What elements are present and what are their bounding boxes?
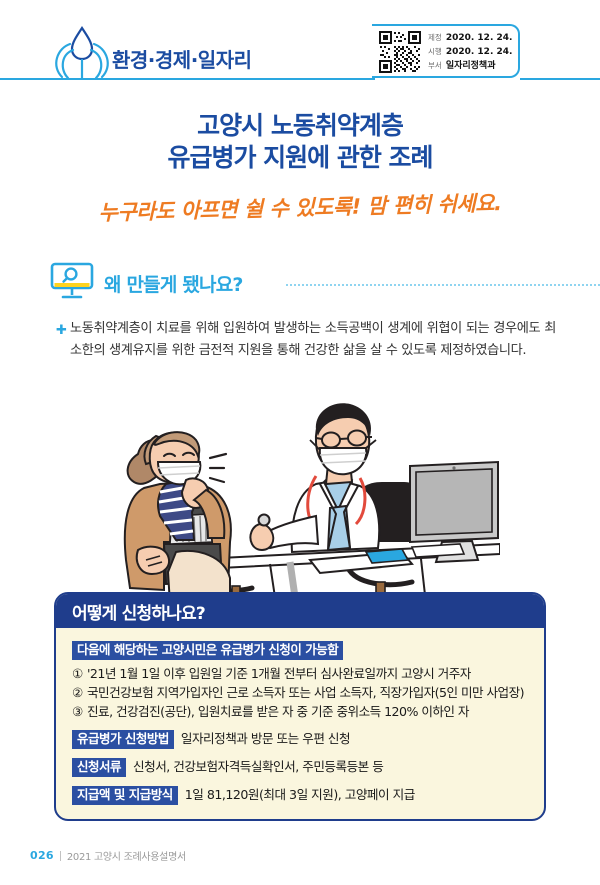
how-to-apply-body: 다음에 해당하는 고양시민은 유급병가 신청이 가능함 ① '21년 1월 1일…	[56, 628, 544, 819]
reason-section-heading: 왜 만들게 됐나요?	[50, 262, 580, 304]
page-header: 환경·경제·일자리	[0, 18, 600, 88]
doctor-patient-consultation-illustration	[120, 392, 500, 610]
header-rule-right	[520, 78, 600, 80]
logo-text: 환경·경제·일자리	[112, 44, 252, 73]
ordinance-meta-list: 제정 2020. 12. 24. 시행 2020. 12. 24. 부서 일자리…	[428, 31, 514, 73]
detail-row-application-method: 유급병가 신청방법 일자리정책과 방문 또는 우편 신청	[72, 730, 528, 749]
section-dotted-rule	[286, 284, 600, 286]
detail-row-required-documents: 신청서류 신청서, 건강보험자격득실확인서, 주민등록등본 등	[72, 758, 528, 777]
qr-code-icon[interactable]	[378, 30, 422, 74]
detail-value-payment: 1일 81,120원(최대 3일 지원), 고양페이 지급	[185, 786, 415, 803]
how-to-apply-box: 어떻게 신청하나요? 다음에 해당하는 고양시민은 유급병가 신청이 가능함 ①…	[54, 592, 546, 821]
eligibility-chip-row: 다음에 해당하는 고양시민은 유급병가 신청이 가능함	[72, 640, 528, 660]
detail-label-payment: 지급액 및 지급방식	[72, 786, 178, 805]
infographic-page: 환경·경제·일자리	[0, 0, 600, 885]
meta-key-effective: 시행	[428, 45, 442, 59]
eligibility-item-3: ③ 진료, 건강검진(공단), 입원치료를 받은 자 중 기준 중위소득 120…	[72, 702, 528, 721]
eligibility-text-3: 진료, 건강검진(공단), 입원치료를 받은 자 중 기준 중위소득 120% …	[87, 702, 528, 721]
page-footer: 026 2021 고양시 조례사용설명서	[30, 848, 186, 863]
monitor-search-icon	[50, 262, 94, 302]
handwritten-subtitle: 누구라도 아프면 쉴 수 있도록! 맘 편히 쉬세요.	[0, 185, 600, 230]
detail-label-required-documents: 신청서류	[72, 758, 126, 777]
eligibility-marker-1: ①	[72, 664, 87, 683]
title-line-2: 유급병가 지원에 관한 조례	[0, 142, 600, 174]
meta-row-effective: 시행 2020. 12. 24.	[428, 45, 514, 59]
meta-value-enacted: 2020. 12. 24.	[446, 31, 513, 45]
meta-row-enacted: 제정 2020. 12. 24.	[428, 31, 514, 45]
eligibility-text-1: '21년 1월 1일 이후 입원일 기준 1개월 전부터 심사완료일까지 고양시…	[87, 664, 528, 683]
detail-row-payment: 지급액 및 지급방식 1일 81,120원(최대 3일 지원), 고양페이 지급	[72, 786, 528, 805]
hands-droplet-logo-icon	[48, 24, 116, 80]
section-title-text: 왜 만들게 됐나요?	[104, 270, 243, 297]
meta-key-department: 부서	[428, 59, 442, 73]
eligibility-chip: 다음에 해당하는 고양시민은 유급병가 신청이 가능함	[72, 641, 343, 660]
meta-row-department: 부서 일자리정책과	[428, 59, 514, 73]
footer-label: 2021 고양시 조례사용설명서	[67, 848, 186, 863]
eligibility-item-1: ① '21년 1월 1일 이후 입원일 기준 1개월 전부터 심사완료일까지 고…	[72, 664, 528, 683]
how-to-apply-title: 어떻게 신청하나요?	[72, 599, 205, 624]
reason-body: ✚ 노동취약계층이 치료를 위해 입원하여 발생하는 소득공백이 생계에 위협이…	[56, 318, 556, 362]
reason-paragraph-row: ✚ 노동취약계층이 치료를 위해 입원하여 발생하는 소득공백이 생계에 위협이…	[56, 318, 556, 362]
eligibility-item-2: ② 국민건강보험 지역가입자인 근로 소득자 또는 사업 소득자, 직장가입자(…	[72, 683, 528, 702]
ordinance-meta-badge: 제정 2020. 12. 24. 시행 2020. 12. 24. 부서 일자리…	[372, 24, 520, 80]
meta-value-department: 일자리정책과	[446, 59, 496, 73]
meta-value-effective: 2020. 12. 24.	[446, 45, 513, 59]
detail-label-application-method: 유급병가 신청방법	[72, 730, 174, 749]
detail-value-application-method: 일자리정책과 방문 또는 우편 신청	[181, 730, 350, 747]
plus-bullet-icon: ✚	[56, 318, 70, 342]
detail-value-required-documents: 신청서, 건강보험자격득실확인서, 주민등록등본 등	[133, 758, 383, 775]
footer-separator	[60, 851, 61, 861]
page-title: 고양시 노동취약계층 유급병가 지원에 관한 조례	[0, 110, 600, 174]
eligibility-marker-3: ③	[72, 702, 87, 721]
footer-page-number: 026	[30, 849, 54, 862]
how-to-apply-header: 어떻게 신청하나요?	[56, 594, 544, 628]
title-line-1: 고양시 노동취약계층	[0, 110, 600, 142]
meta-key-enacted: 제정	[428, 31, 442, 45]
reason-paragraph-text: 노동취약계층이 치료를 위해 입원하여 발생하는 소득공백이 생계에 위협이 되…	[70, 318, 556, 362]
eligibility-marker-2: ②	[72, 683, 87, 702]
eligibility-text-2: 국민건강보험 지역가입자인 근로 소득자 또는 사업 소득자, 직장가입자(5인…	[87, 683, 528, 702]
